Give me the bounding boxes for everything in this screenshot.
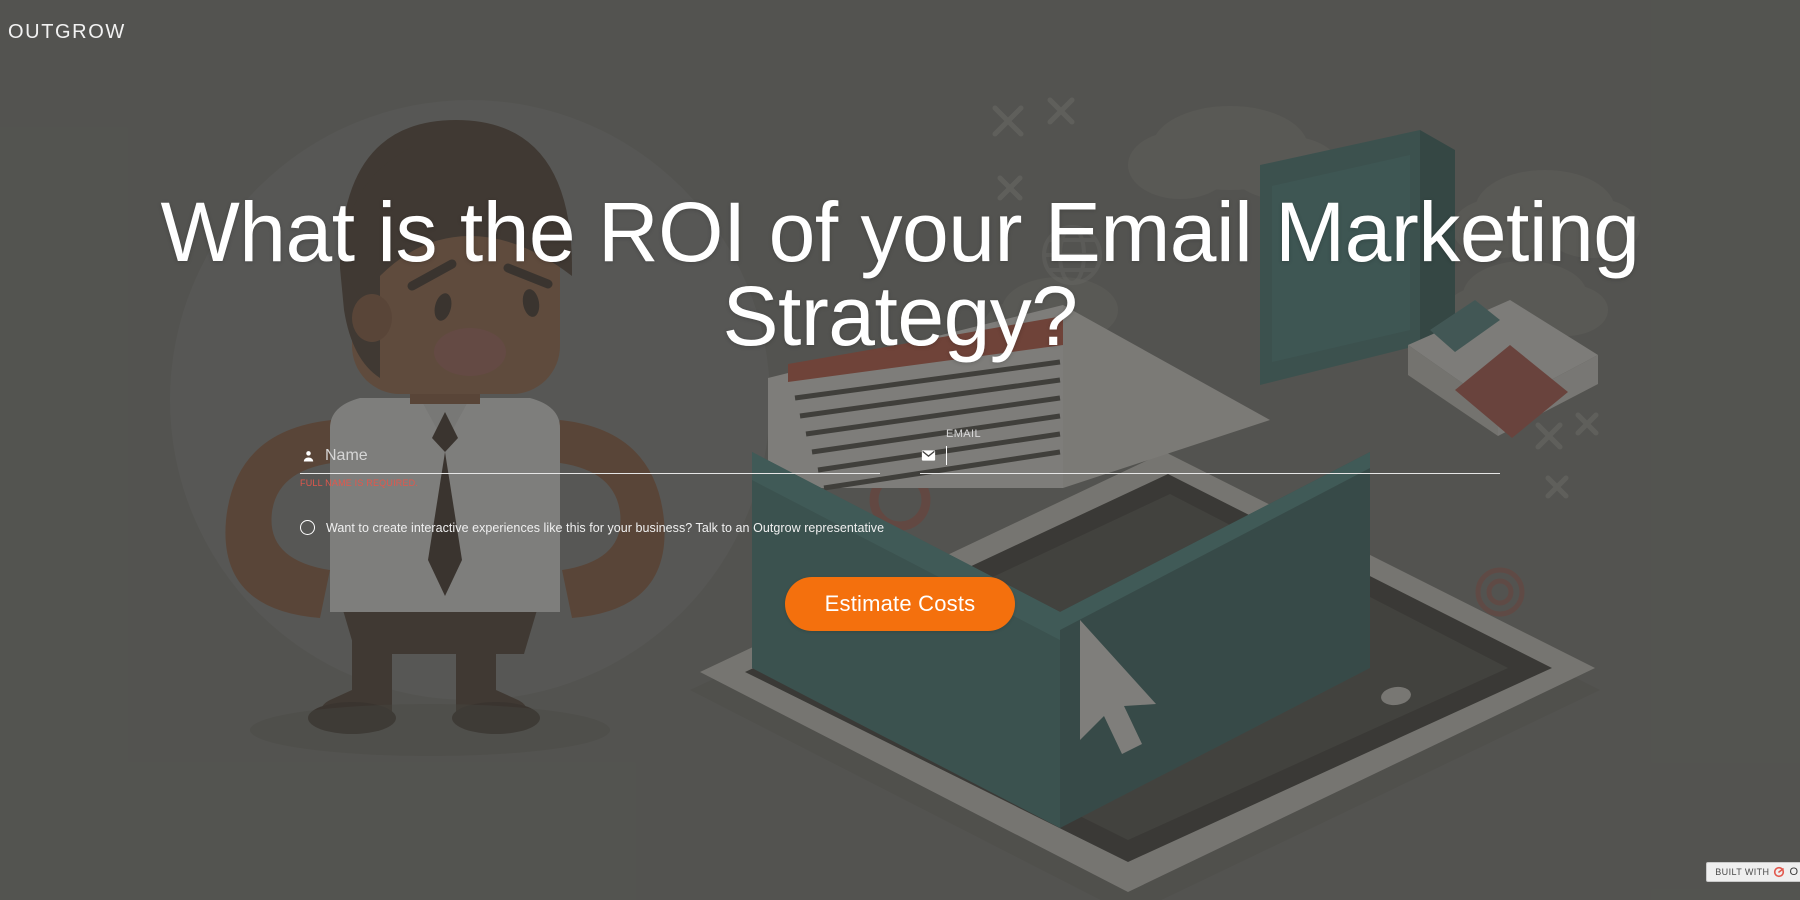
landing-page: OUTGROW What is the ROI of your Email Ma… (0, 0, 1800, 900)
main-content: What is the ROI of your Email Marketing … (0, 0, 1800, 900)
name-field-wrapper[interactable] (300, 447, 880, 474)
built-with-label: BUILT WITH (1715, 867, 1769, 877)
estimate-costs-button[interactable]: Estimate Costs (785, 577, 1016, 631)
cta-row: Estimate Costs (300, 577, 1500, 631)
fields-row: FULL NAME IS REQUIRED. EMAIL (300, 446, 1500, 474)
email-text-caret (946, 446, 947, 465)
email-input[interactable] (956, 447, 1500, 465)
outgrow-logo[interactable]: OUTGROW (8, 21, 126, 44)
outgrow-o-icon (1773, 866, 1785, 878)
email-field-group: EMAIL (920, 446, 1500, 474)
email-field-wrapper[interactable] (920, 446, 1500, 474)
name-input[interactable] (325, 447, 880, 465)
envelope-icon (920, 448, 936, 464)
top-bar: OUTGROW (0, 0, 1800, 64)
email-field-label: EMAIL (946, 428, 981, 440)
person-icon (300, 448, 316, 464)
badge-brand-text: O (1789, 866, 1798, 878)
name-field-group: FULL NAME IS REQUIRED. (300, 447, 880, 474)
page-title: What is the ROI of your Email Marketing … (140, 190, 1660, 358)
lead-capture-form: FULL NAME IS REQUIRED. EMAIL (300, 446, 1500, 535)
consent-label: Want to create interactive experiences l… (326, 521, 884, 535)
consent-row[interactable]: Want to create interactive experiences l… (300, 520, 1500, 535)
radio-unchecked-icon[interactable] (300, 520, 315, 535)
name-field-error: FULL NAME IS REQUIRED. (300, 478, 418, 488)
built-with-badge[interactable]: BUILT WITH O (1706, 862, 1800, 882)
